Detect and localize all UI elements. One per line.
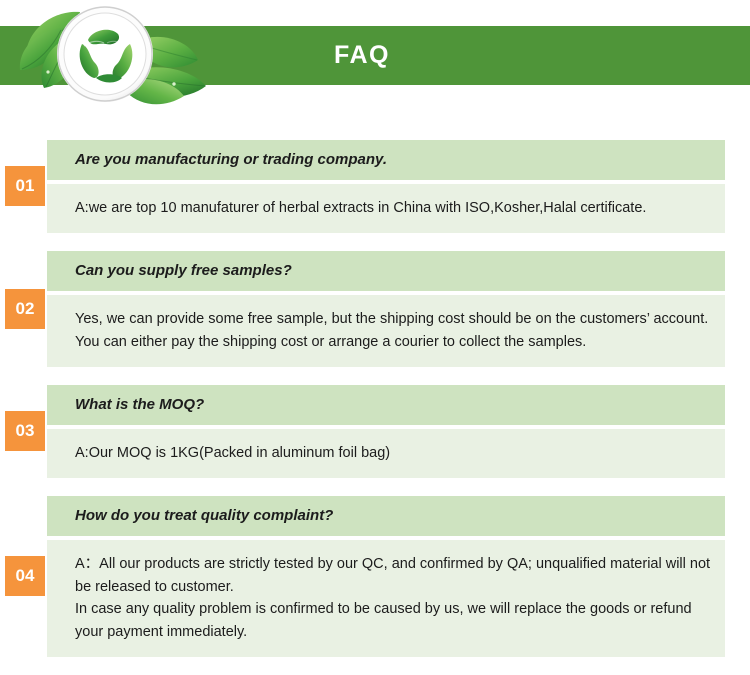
faq-body: Can you supply free samples? Yes, we can… — [47, 251, 725, 367]
faq-item: 04 How do you treat quality complaint? A… — [0, 496, 750, 658]
faq-answer-line: Yes, we can provide some free sample, bu… — [75, 308, 711, 354]
faq-answer: A:we are top 10 manufaturer of herbal ex… — [47, 184, 725, 233]
faq-body: What is the MOQ? A:Our MOQ is 1KG(Packed… — [47, 385, 725, 478]
faq-list: 01 Are you manufacturing or trading comp… — [0, 140, 750, 675]
faq-question[interactable]: Can you supply free samples? — [47, 251, 725, 291]
faq-number-badge: 01 — [5, 166, 45, 206]
faq-answer-line: A:Our MOQ is 1KG(Packed in aluminum foil… — [75, 442, 711, 465]
faq-number-badge: 02 — [5, 289, 45, 329]
faq-number-badge: 04 — [5, 556, 45, 596]
faq-answer: A:Our MOQ is 1KG(Packed in aluminum foil… — [47, 429, 725, 478]
faq-answer-line: In case any quality problem is confirmed… — [75, 598, 711, 644]
logo-circle-badge — [57, 6, 153, 102]
green-leaf-recycle-logo — [10, 0, 220, 112]
faq-question[interactable]: What is the MOQ? — [47, 385, 725, 425]
faq-item: 01 Are you manufacturing or trading comp… — [0, 140, 750, 233]
faq-body: Are you manufacturing or trading company… — [47, 140, 725, 233]
faq-item: 02 Can you supply free samples? Yes, we … — [0, 251, 750, 367]
faq-item: 03 What is the MOQ? A:Our MOQ is 1KG(Pac… — [0, 385, 750, 478]
faq-number-badge: 03 — [5, 411, 45, 451]
faq-answer-line: A：All our products are strictly tested b… — [75, 553, 711, 599]
faq-question[interactable]: Are you manufacturing or trading company… — [47, 140, 725, 180]
faq-answer: Yes, we can provide some free sample, bu… — [47, 295, 725, 367]
faq-question[interactable]: How do you treat quality complaint? — [47, 496, 725, 536]
faq-answer: A：All our products are strictly tested b… — [47, 540, 725, 658]
faq-body: How do you treat quality complaint? A：Al… — [47, 496, 725, 658]
page-title: FAQ — [272, 26, 452, 85]
faq-answer-line: A:we are top 10 manufaturer of herbal ex… — [75, 197, 711, 220]
